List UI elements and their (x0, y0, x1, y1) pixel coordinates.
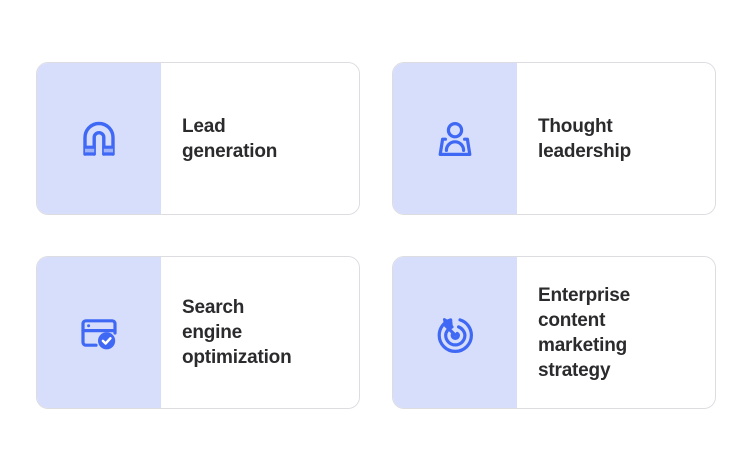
speaker-podium-icon (429, 113, 481, 165)
card-title: Search engine optimization (182, 295, 291, 370)
card-thought-leadership[interactable]: Thought leadership (392, 62, 716, 215)
icon-panel (37, 63, 161, 214)
magnet-icon (73, 113, 125, 165)
card-body: Lead generation (161, 63, 359, 214)
icon-panel (393, 257, 517, 408)
target-dart-icon (429, 307, 481, 359)
card-body: Thought leadership (517, 63, 715, 214)
card-enterprise-content-marketing-strategy[interactable]: Enterprise content marketing strategy (392, 256, 716, 409)
icon-panel (37, 257, 161, 408)
card-lead-generation[interactable]: Lead generation (36, 62, 360, 215)
card-title: Lead generation (182, 114, 277, 164)
browser-check-icon (73, 307, 125, 359)
card-title: Thought leadership (538, 114, 631, 164)
card-body: Search engine optimization (161, 257, 359, 408)
card-search-engine-optimization[interactable]: Search engine optimization (36, 256, 360, 409)
card-grid-board: Lead generation Thought leadership (0, 0, 750, 469)
card-title: Enterprise content marketing strategy (538, 283, 630, 383)
card-body: Enterprise content marketing strategy (517, 257, 715, 408)
card-grid: Lead generation Thought leadership (36, 62, 716, 409)
icon-panel (393, 63, 517, 214)
